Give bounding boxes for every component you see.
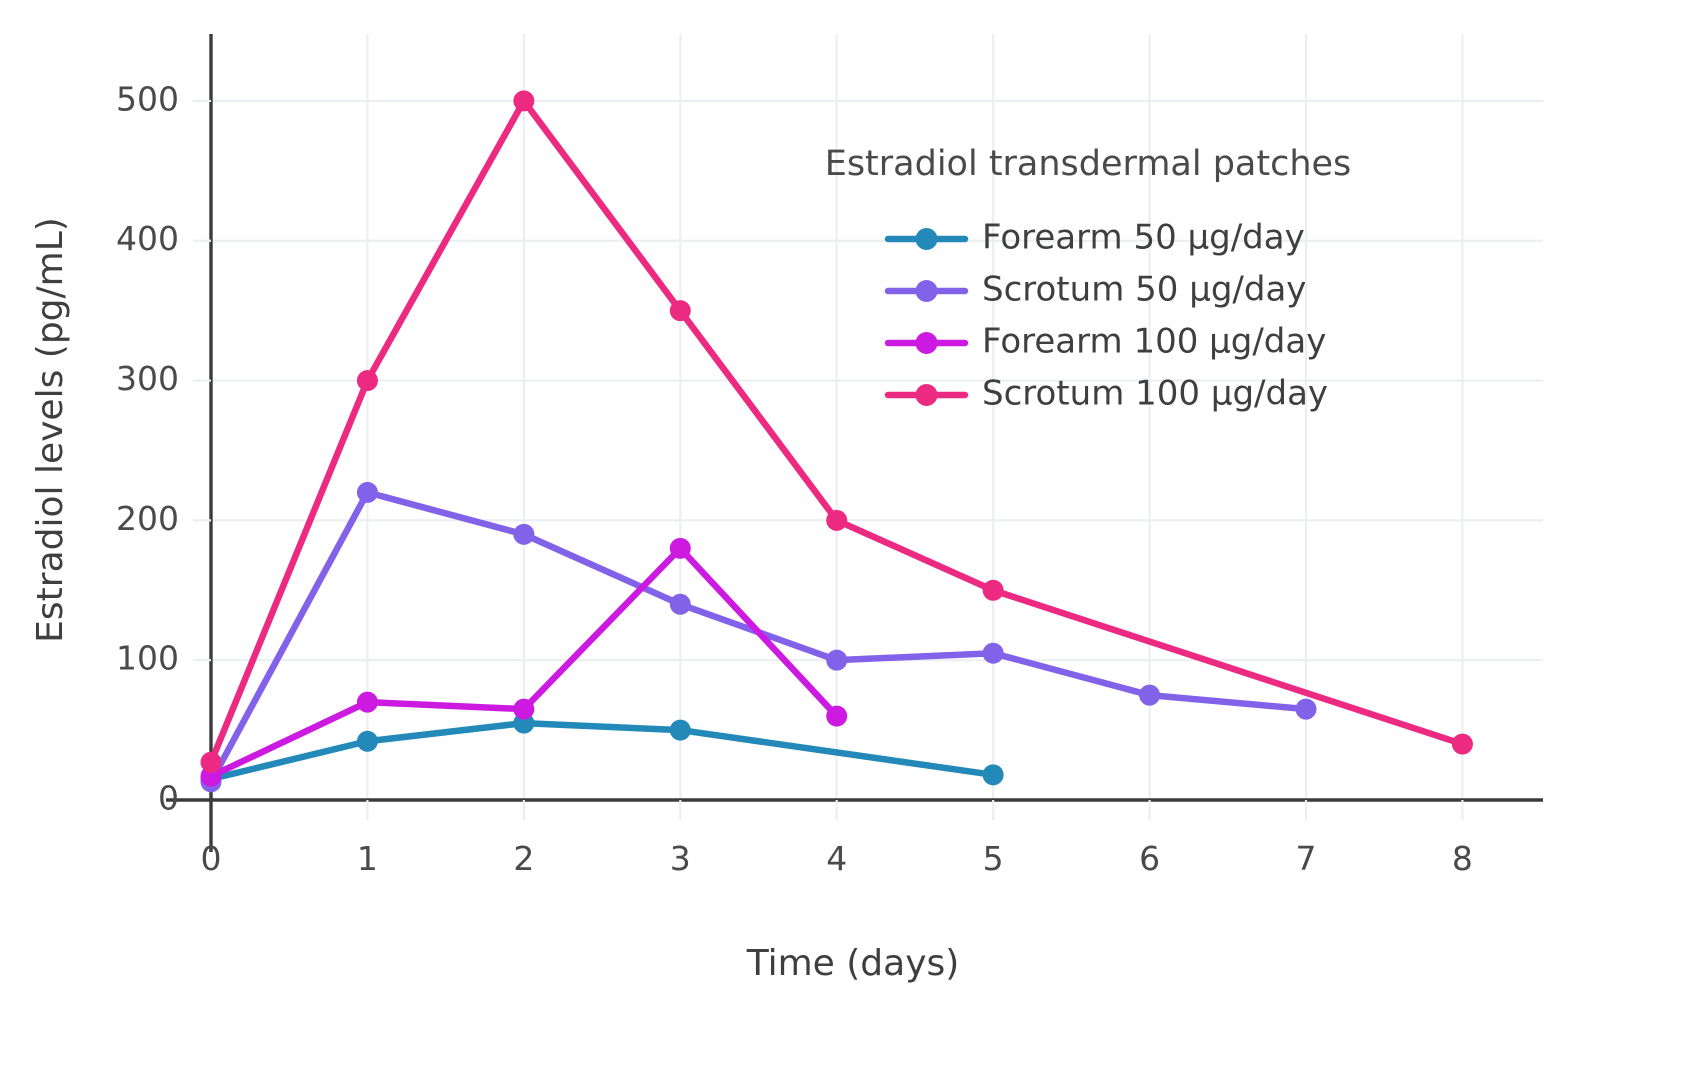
tick-label-layer: 0100200300400500012345678 — [116, 79, 1473, 877]
y-tick-label: 500 — [116, 79, 179, 118]
data-point-marker — [826, 650, 847, 671]
y-tick-label: 400 — [116, 219, 179, 258]
legend-item[interactable]: Forearm 50 µg/day — [888, 218, 1305, 258]
y-axis-title: Estradiol levels (pg/mL) — [30, 217, 71, 643]
legend-item[interactable]: Scrotum 50 µg/day — [888, 270, 1306, 310]
data-point-marker — [983, 764, 1004, 785]
data-point-marker — [1296, 699, 1317, 720]
chart-canvas: 0100200300400500012345678 Estradiol tran… — [0, 0, 1681, 1090]
legend-item-label: Scrotum 50 µg/day — [982, 270, 1306, 310]
y-tick-label: 0 — [158, 779, 179, 818]
x-tick-label: 3 — [670, 839, 691, 878]
data-point-marker — [513, 699, 534, 720]
legend-swatch-marker — [916, 332, 938, 354]
data-point-marker — [670, 720, 691, 741]
x-tick-label: 5 — [983, 839, 1004, 878]
data-point-marker — [357, 692, 378, 713]
estradiol-line-chart: 0100200300400500012345678 Estradiol tran… — [0, 0, 1681, 1090]
data-point-marker — [826, 510, 847, 531]
y-tick-label: 100 — [116, 639, 179, 678]
data-point-marker — [983, 580, 1004, 601]
legend-item-label: Scrotum 100 µg/day — [982, 374, 1328, 414]
x-axis-title: Time (days) — [746, 943, 960, 984]
data-point-marker — [357, 370, 378, 391]
legend-swatch-marker — [916, 384, 938, 406]
data-point-marker — [670, 538, 691, 559]
x-tick-label: 2 — [513, 839, 534, 878]
x-tick-label: 0 — [201, 839, 222, 878]
y-tick-label: 300 — [116, 359, 179, 398]
data-point-marker — [513, 90, 534, 111]
legend-item-label: Forearm 100 µg/day — [982, 322, 1326, 362]
x-tick-label: 8 — [1452, 839, 1473, 878]
x-tick-label: 7 — [1296, 839, 1317, 878]
legend-title: Estradiol transdermal patches — [825, 144, 1352, 184]
x-tick-label: 4 — [826, 839, 847, 878]
data-point-marker — [357, 731, 378, 752]
legend-swatch-marker — [916, 228, 938, 250]
data-point-marker — [357, 482, 378, 503]
data-point-marker — [983, 643, 1004, 664]
data-point-marker — [826, 706, 847, 727]
legend-item[interactable]: Forearm 100 µg/day — [888, 322, 1326, 362]
x-tick-label: 6 — [1139, 839, 1160, 878]
legend-swatch-marker — [916, 280, 938, 302]
series-line — [211, 723, 993, 779]
data-point-marker — [513, 524, 534, 545]
data-point-marker — [1452, 734, 1473, 755]
data-point-marker — [670, 300, 691, 321]
chart-legend: Estradiol transdermal patchesForearm 50 … — [825, 144, 1352, 414]
data-point-marker — [201, 752, 222, 773]
legend-item-label: Forearm 50 µg/day — [982, 218, 1305, 258]
x-tick-label: 1 — [357, 839, 378, 878]
data-point-marker — [670, 594, 691, 615]
data-point-marker — [1139, 685, 1160, 706]
y-tick-label: 200 — [116, 499, 179, 538]
